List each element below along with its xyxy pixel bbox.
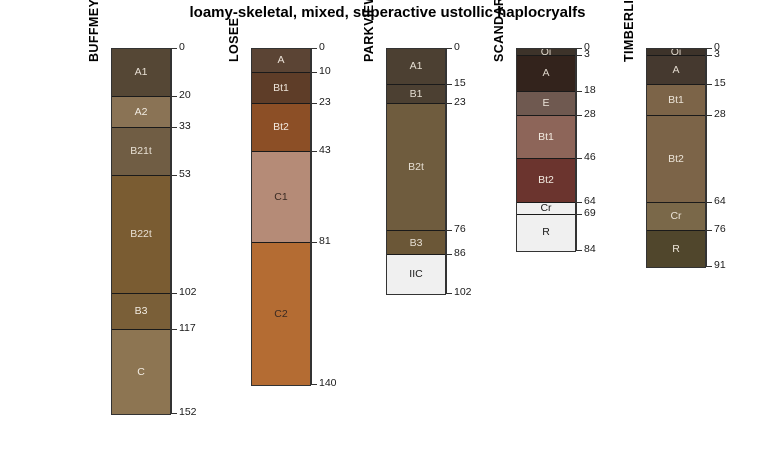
- depth-tick-label: 81: [319, 236, 331, 247]
- profile-name-label: PARKVIEW: [362, 0, 376, 62]
- depth-tick-label: 117: [179, 323, 196, 334]
- profile-name-label: LOSEE: [227, 18, 241, 62]
- profile-name-label: SCANDARD: [492, 0, 506, 62]
- depth-tick: [171, 127, 177, 128]
- horizon-label: A2: [135, 107, 148, 118]
- horizon-label: C1: [274, 192, 287, 203]
- depth-tick-label: 43: [319, 145, 331, 156]
- horizon-block[interactable]: C1: [252, 152, 310, 243]
- horizon-label: Bt2: [273, 122, 289, 133]
- depth-tick-label: 15: [454, 78, 466, 89]
- horizon-label: E: [542, 98, 549, 109]
- horizon-block[interactable]: B22t: [112, 176, 170, 294]
- profile-column: OiABt1Bt2CrR: [646, 48, 706, 268]
- horizon-label: B3: [135, 306, 148, 317]
- horizon-label: C2: [274, 309, 287, 320]
- depth-tick-label: 84: [584, 244, 596, 255]
- depth-tick-label: 76: [454, 224, 466, 235]
- horizon-block[interactable]: A2: [112, 97, 170, 128]
- horizon-label: R: [672, 244, 680, 255]
- depth-tick: [446, 293, 452, 294]
- horizon-block[interactable]: B2t: [387, 104, 445, 231]
- depth-tick: [311, 48, 317, 49]
- horizon-block[interactable]: Bt1: [647, 85, 705, 116]
- depth-tick: [706, 115, 712, 116]
- depth-tick: [706, 84, 712, 85]
- depth-axis: [576, 48, 577, 250]
- depth-tick: [446, 254, 452, 255]
- profile-column: ABt1Bt2C1C2: [251, 48, 311, 386]
- depth-tick: [171, 413, 177, 414]
- page-title: loamy-skeletal, mixed, superactive ustol…: [0, 4, 775, 21]
- horizon-label: Oi: [671, 49, 682, 56]
- horizon-block[interactable]: B1: [387, 85, 445, 104]
- depth-tick: [706, 266, 712, 267]
- horizon-label: B2t: [408, 162, 424, 173]
- profile-name-label: TIMBERLIN: [622, 0, 636, 62]
- horizon-block[interactable]: Bt2: [517, 159, 575, 202]
- depth-tick: [311, 72, 317, 73]
- horizon-label: B1: [410, 89, 423, 100]
- depth-tick: [446, 230, 452, 231]
- depth-tick-label: 15: [714, 78, 726, 89]
- depth-tick-label: 46: [584, 152, 596, 163]
- horizon-label: Cr: [540, 203, 551, 214]
- depth-tick-label: 152: [179, 407, 197, 418]
- horizon-label: IIC: [409, 269, 422, 280]
- horizon-label: B22t: [130, 229, 152, 240]
- horizon-block[interactable]: Bt2: [252, 104, 310, 152]
- depth-axis: [171, 48, 172, 413]
- depth-tick-label: 53: [179, 169, 191, 180]
- horizon-block[interactable]: Bt1: [252, 73, 310, 104]
- horizon-block[interactable]: Bt1: [517, 116, 575, 159]
- horizon-block[interactable]: E: [517, 92, 575, 116]
- depth-tick-label: 86: [454, 248, 466, 259]
- depth-tick: [576, 91, 582, 92]
- horizon-block[interactable]: A1: [387, 49, 445, 85]
- horizon-label: A: [542, 68, 549, 79]
- horizon-label: B21t: [130, 146, 152, 157]
- depth-tick-label: 0: [454, 42, 460, 53]
- depth-tick: [311, 384, 317, 385]
- depth-tick: [311, 151, 317, 152]
- horizon-block[interactable]: C2: [252, 243, 310, 385]
- horizon-block[interactable]: R: [517, 215, 575, 251]
- depth-tick: [446, 84, 452, 85]
- depth-tick-label: 0: [179, 42, 185, 53]
- horizon-label: Bt1: [668, 95, 684, 106]
- depth-tick-label: 3: [584, 49, 590, 60]
- depth-tick: [446, 48, 452, 49]
- depth-tick: [576, 48, 582, 49]
- depth-tick: [576, 55, 582, 56]
- depth-tick-label: 20: [179, 90, 191, 101]
- depth-tick: [576, 250, 582, 251]
- depth-tick-label: 91: [714, 260, 726, 271]
- depth-tick: [706, 202, 712, 203]
- horizon-block[interactable]: Bt2: [647, 116, 705, 202]
- depth-tick: [311, 103, 317, 104]
- horizon-block[interactable]: A1: [112, 49, 170, 97]
- depth-tick: [171, 48, 177, 49]
- profile-column: OiAEBt1Bt2CrR: [516, 48, 576, 252]
- depth-tick-label: 23: [319, 97, 331, 108]
- depth-tick-label: 69: [584, 208, 596, 219]
- profile-column: A1B1B2tB3IIC: [386, 48, 446, 295]
- depth-tick-label: 64: [714, 196, 726, 207]
- horizon-block[interactable]: Cr: [517, 203, 575, 215]
- horizon-block[interactable]: A: [647, 56, 705, 85]
- horizon-label: R: [542, 227, 550, 238]
- depth-tick: [706, 230, 712, 231]
- horizon-block[interactable]: IIC: [387, 255, 445, 293]
- horizon-block[interactable]: R: [647, 231, 705, 267]
- depth-tick: [576, 158, 582, 159]
- depth-tick: [171, 96, 177, 97]
- horizon-label: A1: [410, 61, 423, 72]
- depth-tick: [171, 293, 177, 294]
- horizon-block[interactable]: Oi: [517, 49, 575, 56]
- depth-tick: [171, 329, 177, 330]
- horizon-block[interactable]: A: [252, 49, 310, 73]
- depth-tick-label: 140: [319, 378, 337, 389]
- depth-tick-label: 76: [714, 224, 726, 235]
- horizon-label: A: [672, 65, 679, 76]
- horizon-block[interactable]: B3: [387, 231, 445, 255]
- horizon-label: Cr: [670, 211, 681, 222]
- horizon-label: Bt2: [668, 154, 684, 165]
- depth-tick: [706, 55, 712, 56]
- depth-tick-label: 33: [179, 121, 191, 132]
- depth-tick-label: 28: [714, 109, 726, 120]
- horizon-block[interactable]: Oi: [647, 49, 705, 56]
- depth-tick: [446, 103, 452, 104]
- horizon-block[interactable]: A: [517, 56, 575, 92]
- horizon-block[interactable]: B21t: [112, 128, 170, 176]
- horizon-block[interactable]: B3: [112, 294, 170, 330]
- profile-column: A1A2B21tB22tB3C: [111, 48, 171, 415]
- depth-axis: [706, 48, 707, 266]
- horizon-label: Bt2: [538, 175, 554, 186]
- horizon-block[interactable]: C: [112, 330, 170, 414]
- horizon-label: Bt1: [538, 132, 554, 143]
- horizon-block[interactable]: Cr: [647, 203, 705, 232]
- horizon-label: A: [277, 55, 284, 66]
- depth-tick-label: 10: [319, 66, 331, 77]
- depth-tick: [706, 48, 712, 49]
- horizon-label: A1: [135, 67, 148, 78]
- horizon-label: Bt1: [273, 83, 289, 94]
- profile-name-label: BUFFMEYER: [87, 0, 101, 62]
- depth-tick: [311, 242, 317, 243]
- horizon-label: B3: [410, 238, 423, 249]
- depth-tick: [576, 202, 582, 203]
- depth-tick: [576, 214, 582, 215]
- depth-tick-label: 18: [584, 85, 596, 96]
- depth-axis: [311, 48, 312, 384]
- depth-tick-label: 3: [714, 49, 720, 60]
- horizon-label: C: [137, 367, 145, 378]
- depth-tick-label: 0: [319, 42, 325, 53]
- depth-tick: [171, 175, 177, 176]
- depth-tick-label: 102: [179, 287, 197, 298]
- depth-tick-label: 28: [584, 109, 596, 120]
- depth-tick-label: 23: [454, 97, 466, 108]
- horizon-label: Oi: [541, 49, 552, 56]
- depth-tick: [576, 115, 582, 116]
- depth-tick-label: 102: [454, 287, 472, 298]
- depth-tick-label: 64: [584, 196, 596, 207]
